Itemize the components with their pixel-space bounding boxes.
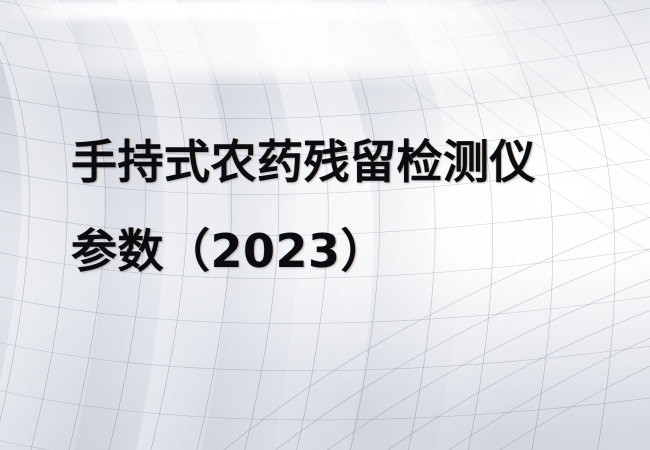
- title-block: 手持式农药残留检测仪 参数（2023）: [71, 118, 611, 296]
- title-banner: 手持式农药残留检测仪 参数（2023）: [0, 0, 650, 450]
- title-line-1: 手持式农药残留检测仪: [71, 118, 611, 207]
- background-specular-streak: [0, 0, 650, 20]
- title-line-2: 参数（2023）: [71, 207, 611, 296]
